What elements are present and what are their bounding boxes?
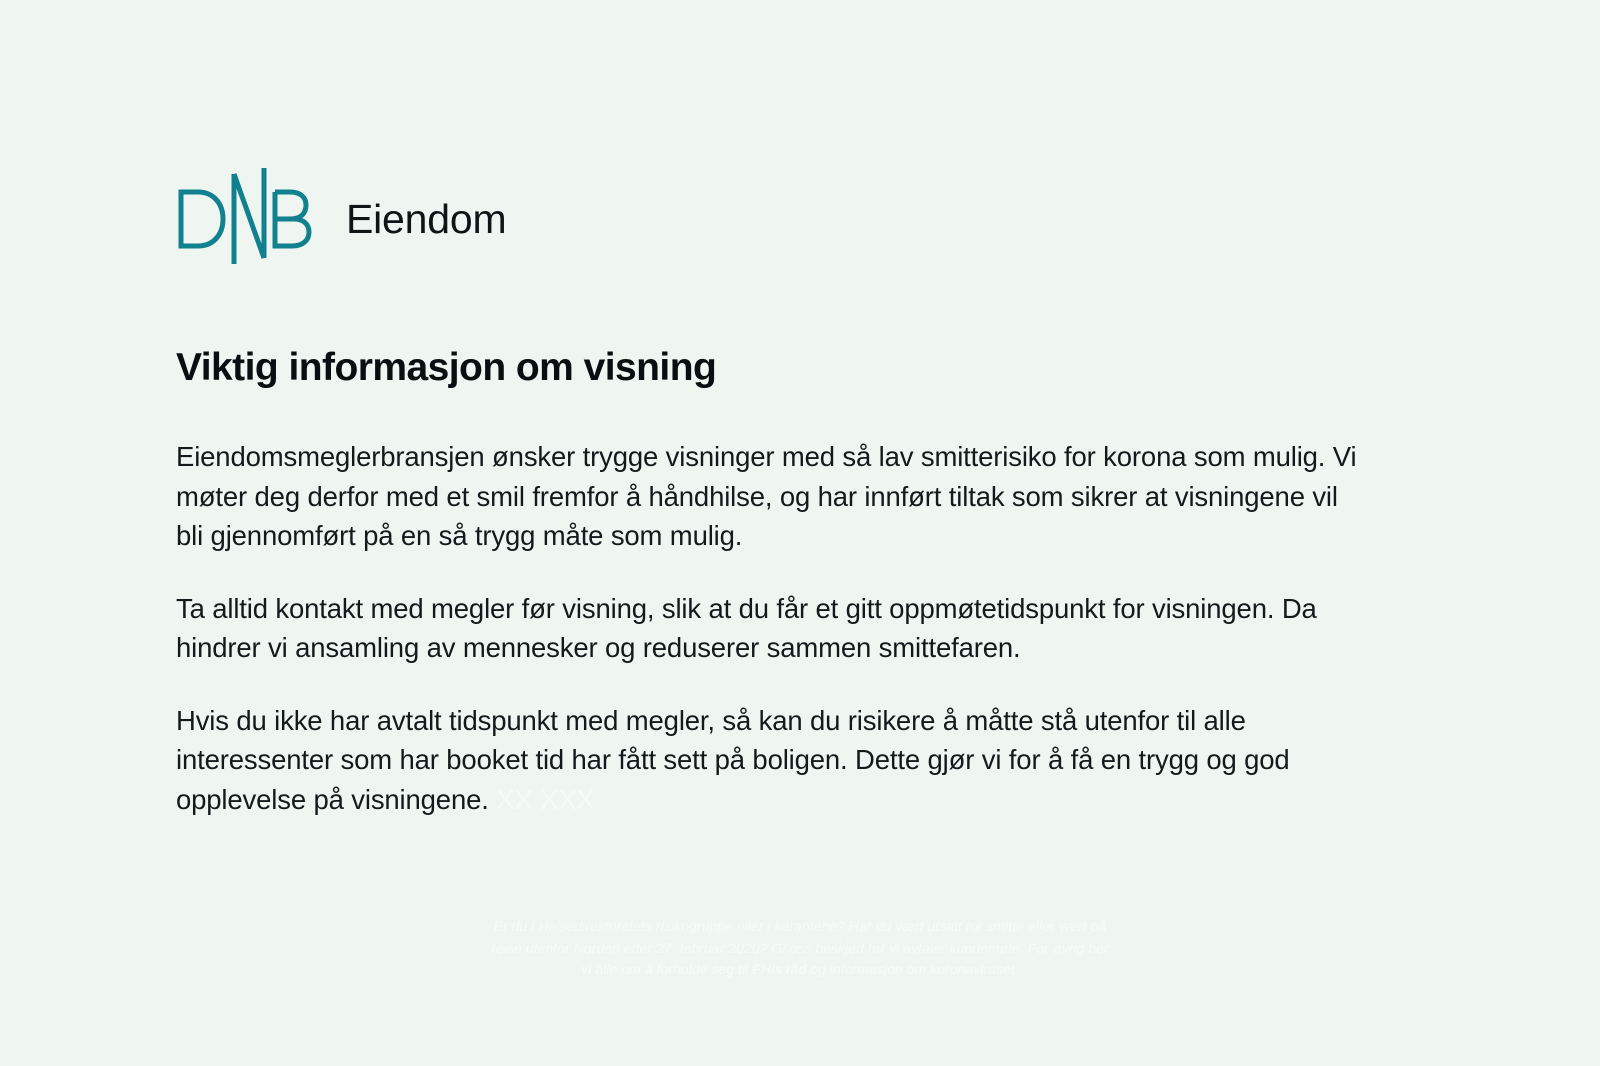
- body-paragraph-2: Ta alltid kontakt med megler før visning…: [176, 589, 1361, 668]
- slide-root: Eiendom Viktig informasjon om visning Ei…: [0, 0, 1600, 1066]
- page-title: Viktig informasjon om visning: [176, 345, 1376, 391]
- dnb-logo-icon: [176, 168, 312, 264]
- body-paragraph-1: Eiendomsmeglerbransjen ønsker trygge vis…: [176, 437, 1361, 556]
- footer-note: Er du i Helsedirektoratets risikogruppe …: [490, 916, 1110, 981]
- ghost-placeholder-value: XX XXX: [496, 784, 594, 815]
- content-column: Viktig informasjon om visning Eiendomsme…: [176, 345, 1376, 819]
- body-paragraph-3: Hvis du ikke har avtalt tidspunkt med me…: [176, 701, 1361, 820]
- brand-word: Eiendom: [346, 199, 506, 240]
- body-paragraph-3-text: Hvis du ikke har avtalt tidspunkt med me…: [176, 705, 1290, 815]
- brand-lockup: Eiendom: [176, 168, 506, 264]
